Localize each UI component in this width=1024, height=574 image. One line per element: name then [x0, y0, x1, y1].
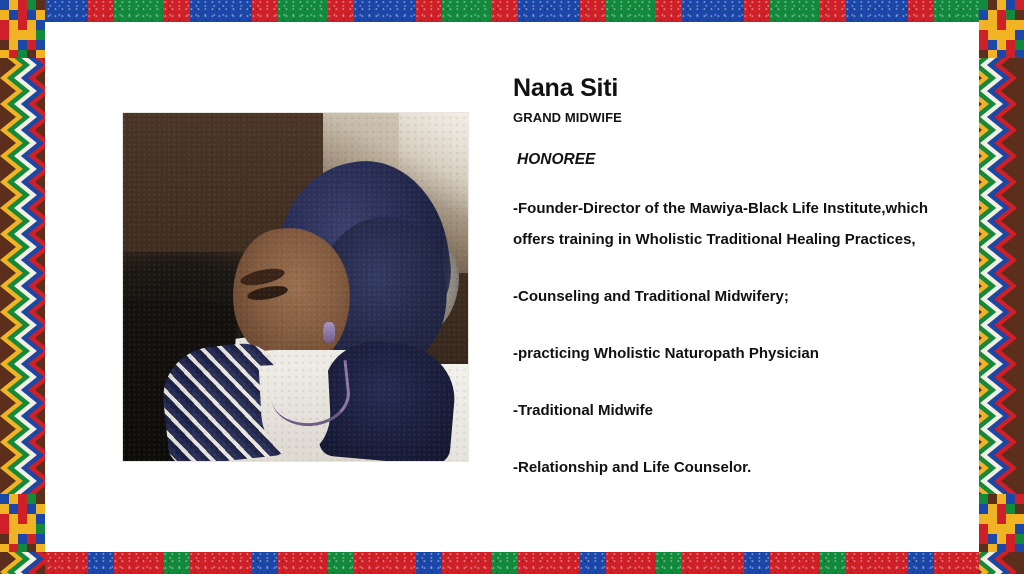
- border-chevron-stripe: [994, 0, 1017, 574]
- border-block: [656, 0, 682, 22]
- border-corner-cell: [27, 50, 36, 58]
- border-corner-cell: [988, 504, 997, 514]
- border-corner-cell: [997, 494, 1006, 504]
- border-block: [0, 0, 26, 22]
- border-corner-cell: [979, 40, 988, 50]
- border-corner-cell: [0, 524, 9, 534]
- border-corner-cell: [988, 494, 997, 504]
- border-corner-cell: [988, 10, 997, 20]
- border-band-left: [0, 0, 45, 574]
- border-block: [442, 0, 492, 22]
- border-corner-cell: [1006, 534, 1015, 544]
- border-corner-cell: [997, 0, 1006, 10]
- border-corner-cell: [0, 50, 9, 58]
- border-corner-cell: [36, 494, 45, 504]
- border-corner-cell: [1015, 494, 1024, 504]
- border-corner-cell: [988, 20, 997, 30]
- border-block: [114, 0, 164, 22]
- border-block: [656, 552, 682, 574]
- border-corner-cell: [18, 30, 27, 40]
- border-block: [580, 0, 606, 22]
- border-corner-cell: [18, 40, 27, 50]
- border-corner-cell: [27, 10, 36, 20]
- border-block: [682, 0, 744, 22]
- border-corner-cell: [1006, 40, 1015, 50]
- border-block: [518, 552, 580, 574]
- border-corner-cell: [27, 544, 36, 552]
- border-block: [164, 0, 190, 22]
- border-corner-cell: [18, 504, 27, 514]
- border-corner-cell: [18, 524, 27, 534]
- profile-bullet-5: -Relationship and Life Counselor.: [513, 452, 943, 483]
- border-block: [252, 552, 278, 574]
- border-corner-cell: [997, 20, 1006, 30]
- border-block: [606, 0, 656, 22]
- border-corner-cell: [0, 30, 9, 40]
- border-corner-ornament: [0, 0, 45, 58]
- border-corner-cell: [18, 0, 27, 10]
- border-corner-cell: [1015, 50, 1024, 58]
- border-corner-ornament: [979, 0, 1024, 58]
- border-chevron-group: [979, 0, 1024, 574]
- border-corner-cell: [1015, 514, 1024, 524]
- border-block: [934, 0, 984, 22]
- honoree-label: HONOREE: [517, 151, 943, 169]
- border-chevron-stripe: [979, 0, 996, 574]
- border-block: [0, 552, 26, 574]
- border-block: [26, 552, 88, 574]
- border-corner-cell: [27, 30, 36, 40]
- border-corner-cell: [979, 0, 988, 10]
- profile-bullet-3: -practicing Wholistic Naturopath Physici…: [513, 338, 943, 369]
- border-band-right: [979, 0, 1024, 574]
- border-corner-cell: [1015, 524, 1024, 534]
- border-corner-cell: [1006, 514, 1015, 524]
- border-chevron-stripe: [979, 0, 989, 574]
- border-corner-cell: [979, 20, 988, 30]
- border-block: [846, 0, 908, 22]
- border-corner-cell: [0, 0, 9, 10]
- border-block: [744, 552, 770, 574]
- photo-grain-overlay: [123, 113, 468, 461]
- profile-bullet-4: -Traditional Midwife: [513, 395, 943, 426]
- border-corner-cell: [979, 50, 988, 58]
- border-corner-cell: [1006, 50, 1015, 58]
- border-chevron-stripe: [14, 0, 37, 574]
- border-corner-cell: [27, 514, 36, 524]
- border-corner-cell: [1006, 0, 1015, 10]
- border-corner-cell: [1006, 494, 1015, 504]
- border-block: [770, 0, 820, 22]
- border-corner-cell: [0, 40, 9, 50]
- border-corner-cell: [9, 534, 18, 544]
- border-block: [606, 552, 656, 574]
- border-block: [416, 552, 442, 574]
- border-corner-cell: [9, 40, 18, 50]
- border-corner-cell: [18, 534, 27, 544]
- border-corner-cell: [0, 504, 9, 514]
- border-chevron-stripe: [28, 0, 45, 574]
- border-block: [252, 0, 278, 22]
- border-corner-cell: [27, 524, 36, 534]
- border-block: [278, 552, 328, 574]
- profile-title: GRAND MIDWIFE: [513, 110, 943, 125]
- border-block: [190, 0, 252, 22]
- border-corner-cell: [27, 40, 36, 50]
- border-corner-cell: [997, 504, 1006, 514]
- border-corner-cell: [27, 534, 36, 544]
- border-chevron-stripe: [21, 0, 44, 574]
- border-block: [518, 0, 580, 22]
- border-corner-cell: [36, 50, 45, 58]
- border-corner-cell: [1006, 524, 1015, 534]
- border-corner-cell: [979, 544, 988, 552]
- border-corner-cell: [18, 514, 27, 524]
- border-corner-cell: [9, 10, 18, 20]
- border-block: [354, 552, 416, 574]
- border-corner-cell: [9, 514, 18, 524]
- border-corner-cell: [1015, 544, 1024, 552]
- profile-name: Nana Siti: [513, 75, 943, 103]
- border-corner-cell: [979, 494, 988, 504]
- border-corner-cell: [1015, 30, 1024, 40]
- border-corner-cell: [997, 50, 1006, 58]
- border-corner-cell: [9, 494, 18, 504]
- border-block: [164, 552, 190, 574]
- border-block: [820, 0, 846, 22]
- border-block: [114, 552, 164, 574]
- border-block: [442, 552, 492, 574]
- border-corner-cell: [988, 524, 997, 534]
- border-chevron-stripe: [987, 0, 1010, 574]
- border-corner-cell: [997, 30, 1006, 40]
- border-block: [416, 0, 442, 22]
- border-corner-cell: [27, 0, 36, 10]
- border-corner-cell: [997, 534, 1006, 544]
- border-block: [934, 552, 984, 574]
- profile-bullet-2: -Counseling and Traditional Midwifery;: [513, 281, 943, 312]
- border-corner-cell: [988, 0, 997, 10]
- portrait-photo: [123, 113, 468, 461]
- border-block: [820, 552, 846, 574]
- border-corner-cell: [0, 20, 9, 30]
- profile-bullet-1: -Founder-Director of the Mawiya-Black Li…: [513, 193, 943, 255]
- border-corner-cell: [1006, 504, 1015, 514]
- border-block: [190, 552, 252, 574]
- border-corner-cell: [36, 534, 45, 544]
- border-corner-cell: [36, 514, 45, 524]
- border-corner-cell: [9, 30, 18, 40]
- border-chevron-stripe: [980, 0, 1003, 574]
- border-chevron-stripe: [0, 0, 23, 574]
- border-block: [88, 552, 114, 574]
- border-chevron-group: [0, 0, 45, 574]
- content-card: Nana Siti GRAND MIDWIFE HONOREE -Founder…: [45, 22, 979, 552]
- border-corner-cell: [1006, 20, 1015, 30]
- border-corner-cell: [997, 514, 1006, 524]
- border-block: [354, 0, 416, 22]
- border-corner-cell: [979, 504, 988, 514]
- border-block: [682, 552, 744, 574]
- border-corner-cell: [997, 40, 1006, 50]
- border-corner-cell: [988, 50, 997, 58]
- border-corner-cell: [979, 534, 988, 544]
- border-band-bottom: [0, 552, 1024, 574]
- border-corner-cell: [988, 544, 997, 552]
- border-corner-cell: [0, 514, 9, 524]
- border-corner-cell: [979, 524, 988, 534]
- border-block: [908, 0, 934, 22]
- border-corner-cell: [0, 534, 9, 544]
- border-corner-cell: [18, 10, 27, 20]
- border-corner-cell: [18, 494, 27, 504]
- border-corner-cell: [36, 20, 45, 30]
- border-corner-cell: [18, 50, 27, 58]
- profile-text-column: Nana Siti GRAND MIDWIFE HONOREE -Founder…: [513, 75, 943, 509]
- border-corner-cell: [9, 50, 18, 58]
- border-corner-cell: [1015, 20, 1024, 30]
- border-corner-ornament: [979, 494, 1024, 552]
- border-corner-cell: [36, 524, 45, 534]
- border-corner-cell: [0, 10, 9, 20]
- border-corner-ornament: [0, 494, 45, 552]
- border-corner-cell: [36, 40, 45, 50]
- border-corner-cell: [1006, 30, 1015, 40]
- border-corner-cell: [979, 514, 988, 524]
- border-corner-cell: [27, 504, 36, 514]
- border-corner-cell: [9, 0, 18, 10]
- border-block: [908, 552, 934, 574]
- border-corner-cell: [1015, 534, 1024, 544]
- border-corner-cell: [1015, 40, 1024, 50]
- border-block: [328, 552, 354, 574]
- border-corner-cell: [979, 10, 988, 20]
- border-block: [492, 552, 518, 574]
- border-corner-cell: [18, 544, 27, 552]
- border-block: [770, 552, 820, 574]
- border-corner-cell: [36, 30, 45, 40]
- border-corner-cell: [979, 30, 988, 40]
- border-corner-cell: [36, 0, 45, 10]
- border-corner-cell: [9, 504, 18, 514]
- border-corner-cell: [988, 40, 997, 50]
- border-corner-cell: [36, 10, 45, 20]
- border-corner-cell: [997, 544, 1006, 552]
- border-block: [846, 552, 908, 574]
- border-corner-cell: [1015, 0, 1024, 10]
- border-corner-cell: [9, 544, 18, 552]
- border-corner-cell: [9, 524, 18, 534]
- border-block: [328, 0, 354, 22]
- border-corner-cell: [9, 20, 18, 30]
- border-block: [26, 0, 88, 22]
- border-corner-cell: [0, 494, 9, 504]
- border-corner-cell: [36, 544, 45, 552]
- border-corner-cell: [36, 504, 45, 514]
- border-corner-cell: [1015, 504, 1024, 514]
- border-block: [88, 0, 114, 22]
- border-band-top: [0, 0, 1024, 22]
- border-block: [278, 0, 328, 22]
- border-corner-cell: [0, 544, 9, 552]
- border-corner-cell: [988, 30, 997, 40]
- border-corner-cell: [997, 524, 1006, 534]
- border-block: [744, 0, 770, 22]
- border-corner-cell: [988, 534, 997, 544]
- border-block: [580, 552, 606, 574]
- border-corner-cell: [27, 494, 36, 504]
- border-corner-cell: [1006, 544, 1015, 552]
- border-corner-cell: [988, 514, 997, 524]
- border-chevron-svg: [979, 0, 1024, 574]
- border-block: [492, 0, 518, 22]
- slide-canvas: Nana Siti GRAND MIDWIFE HONOREE -Founder…: [0, 0, 1024, 574]
- border-corner-cell: [997, 10, 1006, 20]
- border-chevron-svg: [0, 0, 45, 574]
- border-corner-cell: [1006, 10, 1015, 20]
- border-corner-cell: [18, 20, 27, 30]
- border-corner-cell: [27, 20, 36, 30]
- border-chevron-stripe: [7, 0, 30, 574]
- border-corner-cell: [1015, 10, 1024, 20]
